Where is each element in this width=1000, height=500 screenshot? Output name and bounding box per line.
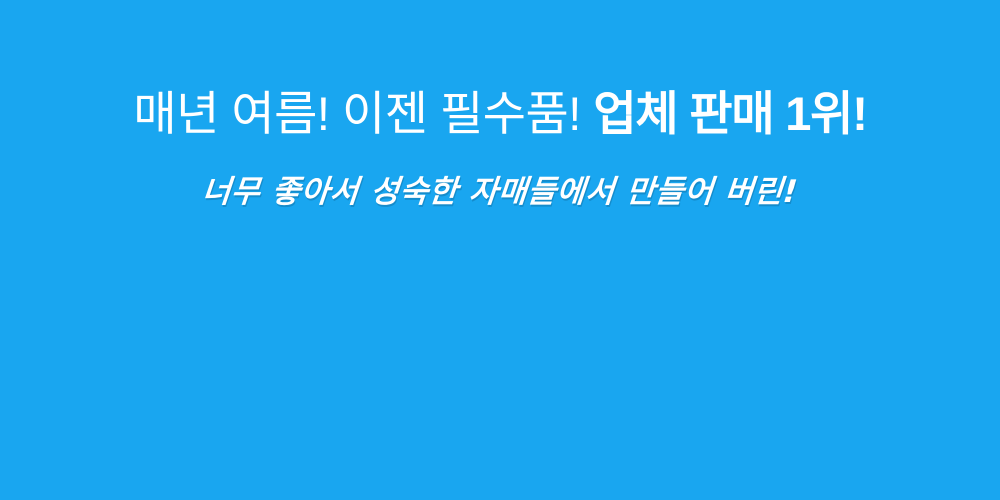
headline-segment-regular: 매년 여름! 이젠 필수품!	[133, 87, 593, 140]
headline-segment-bold: 업체 판매 1위!	[593, 87, 866, 140]
subtitle: 너무 좋아서 성숙한 자매들에서 만들어 버린!	[0, 170, 1000, 214]
banner-empty-stage	[0, 230, 1000, 500]
headline: 매년 여름! 이젠 필수품! 업체 판매 1위!	[0, 84, 1000, 144]
promo-banner: 매년 여름! 이젠 필수품! 업체 판매 1위! 너무 좋아서 성숙한 자매들에…	[0, 0, 1000, 500]
